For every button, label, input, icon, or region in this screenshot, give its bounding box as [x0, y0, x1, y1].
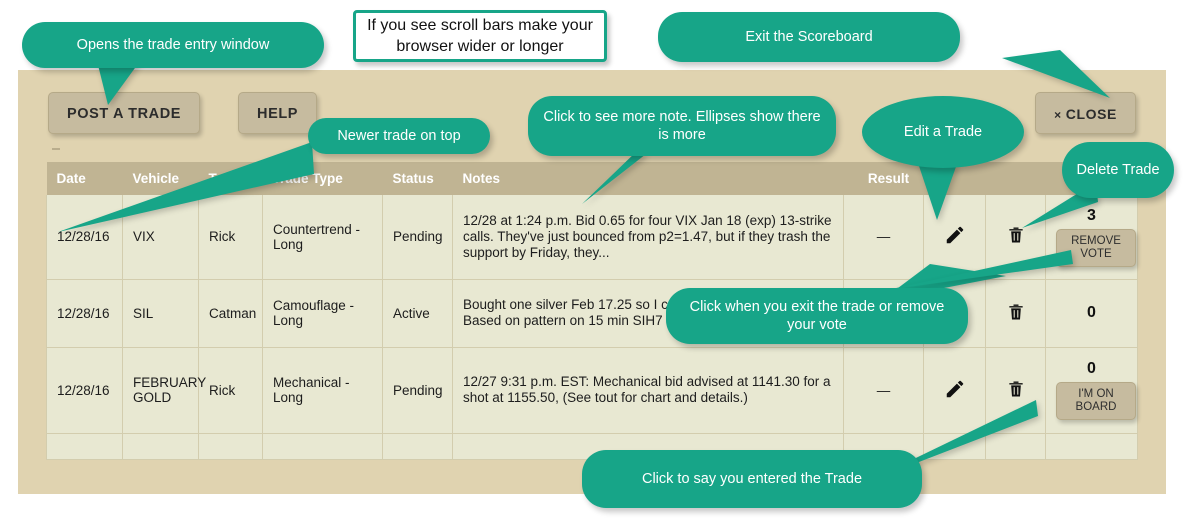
cell-vehicle: [123, 433, 199, 459]
cell-status: Pending: [383, 195, 453, 279]
trash-icon[interactable]: [1006, 378, 1026, 400]
cell-status: [383, 433, 453, 459]
cell-vehicle: SIL: [123, 279, 199, 347]
cell-vote: [1046, 433, 1138, 459]
callout-edit-trade: Edit a Trade: [862, 96, 1024, 168]
cell-date: [47, 433, 123, 459]
callout-delete-trade: Delete Trade: [1062, 142, 1174, 198]
cell-notes[interactable]: 12/27 9:31 p.m. EST: Mechanical bid advi…: [453, 347, 844, 433]
cell-vote[interactable]: 0 I'M ON BOARD: [1046, 347, 1138, 433]
callout-tail-edit-trade: [915, 158, 985, 228]
callout-tail-more-note: [580, 148, 650, 208]
cell-status: Pending: [383, 347, 453, 433]
callout-browser-note: If you see scroll bars make your browser…: [353, 10, 607, 62]
callout-tail-exit-scoreboard: [1000, 50, 1120, 110]
callout-exit-scoreboard: Exit the Scoreboard: [658, 12, 960, 62]
cell-trade-type: [263, 433, 383, 459]
cell-trader: Rick: [199, 347, 263, 433]
vote-count: 0: [1056, 360, 1127, 378]
callout-newer-trade: Newer trade on top: [308, 118, 490, 154]
callout-tail-newer-trade: [56, 140, 316, 235]
callout-more-note: Click to see more note. Ellipses show th…: [528, 96, 836, 156]
cell-date: 12/28/16: [47, 347, 123, 433]
cell-trader: Catman: [199, 279, 263, 347]
cell-status: Active: [383, 279, 453, 347]
pencil-icon[interactable]: [944, 378, 966, 400]
cell-trade-type: Mechanical - Long: [263, 347, 383, 433]
cell-trader: [199, 433, 263, 459]
callout-exit-or-remove: Click when you exit the trade or remove …: [666, 288, 968, 344]
vote-button[interactable]: I'M ON BOARD: [1056, 382, 1136, 420]
vote-count: 0: [1056, 304, 1127, 322]
column-header-result: Result: [844, 162, 924, 195]
cell-date: 12/28/16: [47, 279, 123, 347]
help-button[interactable]: HELP: [238, 92, 317, 134]
close-icon: ×: [1054, 108, 1062, 122]
callout-entered-trade: Click to say you entered the Trade: [582, 450, 922, 508]
callout-post-trade: Opens the trade entry window: [22, 22, 324, 68]
cell-vehicle: FEBRUARY GOLD: [123, 347, 199, 433]
cell-trade-type: Camouflage - Long: [263, 279, 383, 347]
column-header-status: Status: [383, 162, 453, 195]
